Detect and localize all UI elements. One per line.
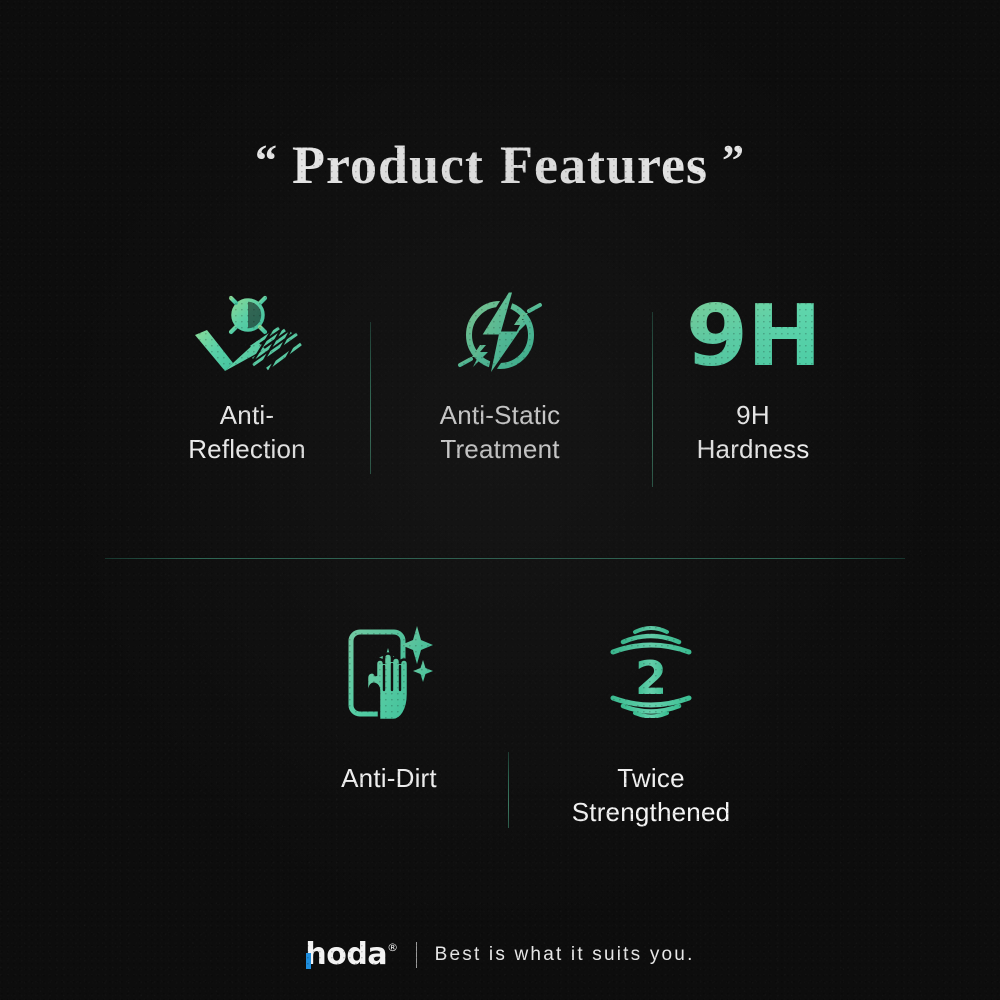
feature-label-line-1: Twice xyxy=(572,762,731,796)
product-features-banner: “ProductFeatures” xyxy=(0,0,1000,1000)
registered-trademark-icon: ® xyxy=(387,941,398,954)
feature-label-anti-reflection: Anti- Reflection xyxy=(188,399,306,467)
page-title: “ProductFeatures” xyxy=(249,134,751,196)
layered-two-icon: 2 xyxy=(599,622,703,718)
quote-close-mark: ” xyxy=(716,136,751,185)
footer-separator xyxy=(416,942,417,968)
column-divider-1 xyxy=(370,322,371,474)
hoda-logo: hoda® xyxy=(305,940,397,970)
sun-over-surface-icon xyxy=(191,289,303,381)
footer-tagline: Best is what it suits you. xyxy=(435,944,695,966)
9h-icon-box: 9H xyxy=(696,285,811,385)
feature-label-line-1: 9H xyxy=(697,399,810,433)
page-title-word-2: Features xyxy=(492,135,716,195)
page-title-word-1: Product xyxy=(284,135,492,195)
logo-blue-accent xyxy=(306,953,311,969)
column-divider-2 xyxy=(652,312,653,487)
section-divider-horizontal xyxy=(105,558,905,559)
anti-static-icon-box xyxy=(452,285,548,385)
feature-item-9h-hardness: 9H 9H Hardness xyxy=(627,285,880,467)
column-divider-3 xyxy=(508,752,509,828)
feature-label-line-2: Treatment xyxy=(440,433,561,467)
feature-label-anti-static: Anti-Static Treatment xyxy=(440,399,561,467)
page-title-wrap: “ProductFeatures” xyxy=(0,134,1000,196)
feature-label-line-2: Strengthened xyxy=(572,796,731,830)
feature-label-twice-strengthened: Twice Strengthened xyxy=(572,762,731,830)
feature-item-anti-static: Anti-Static Treatment xyxy=(374,285,627,467)
quote-open-mark: “ xyxy=(249,136,284,185)
feature-label-line-2: Hardness xyxy=(697,433,810,467)
feature-label-anti-dirt: Anti-Dirt xyxy=(341,762,437,796)
logo-wordmark: hoda xyxy=(305,937,387,972)
9h-text-icon: 9H xyxy=(685,285,820,385)
feature-label-line-1: Anti-Static xyxy=(440,399,561,433)
feature-row-top: Anti- Reflection xyxy=(120,285,880,467)
twice-strengthened-number: 2 xyxy=(635,651,667,705)
feature-item-anti-reflection: Anti- Reflection xyxy=(121,285,374,467)
lightning-bolt-circle-icon xyxy=(452,289,548,381)
twice-strengthened-icon-box: 2 xyxy=(599,620,703,720)
feature-label-line-2: Reflection xyxy=(188,433,306,467)
feature-item-twice-strengthened: 2 Twice Strengthened xyxy=(520,620,782,830)
feature-label-9h-hardness: 9H Hardness xyxy=(697,399,810,467)
feature-row-bottom: Anti-Dirt xyxy=(250,620,790,830)
footer-branding: hoda® Best is what it suits you. xyxy=(0,940,1000,970)
feature-label-line-1: Anti-Dirt xyxy=(341,762,437,796)
anti-reflection-icon-box xyxy=(191,285,303,385)
hand-wiping-phone-sparkle-icon xyxy=(343,620,435,720)
feature-item-anti-dirt: Anti-Dirt xyxy=(258,620,520,796)
feature-label-line-1: Anti- xyxy=(188,399,306,433)
anti-dirt-icon-box xyxy=(343,620,435,720)
